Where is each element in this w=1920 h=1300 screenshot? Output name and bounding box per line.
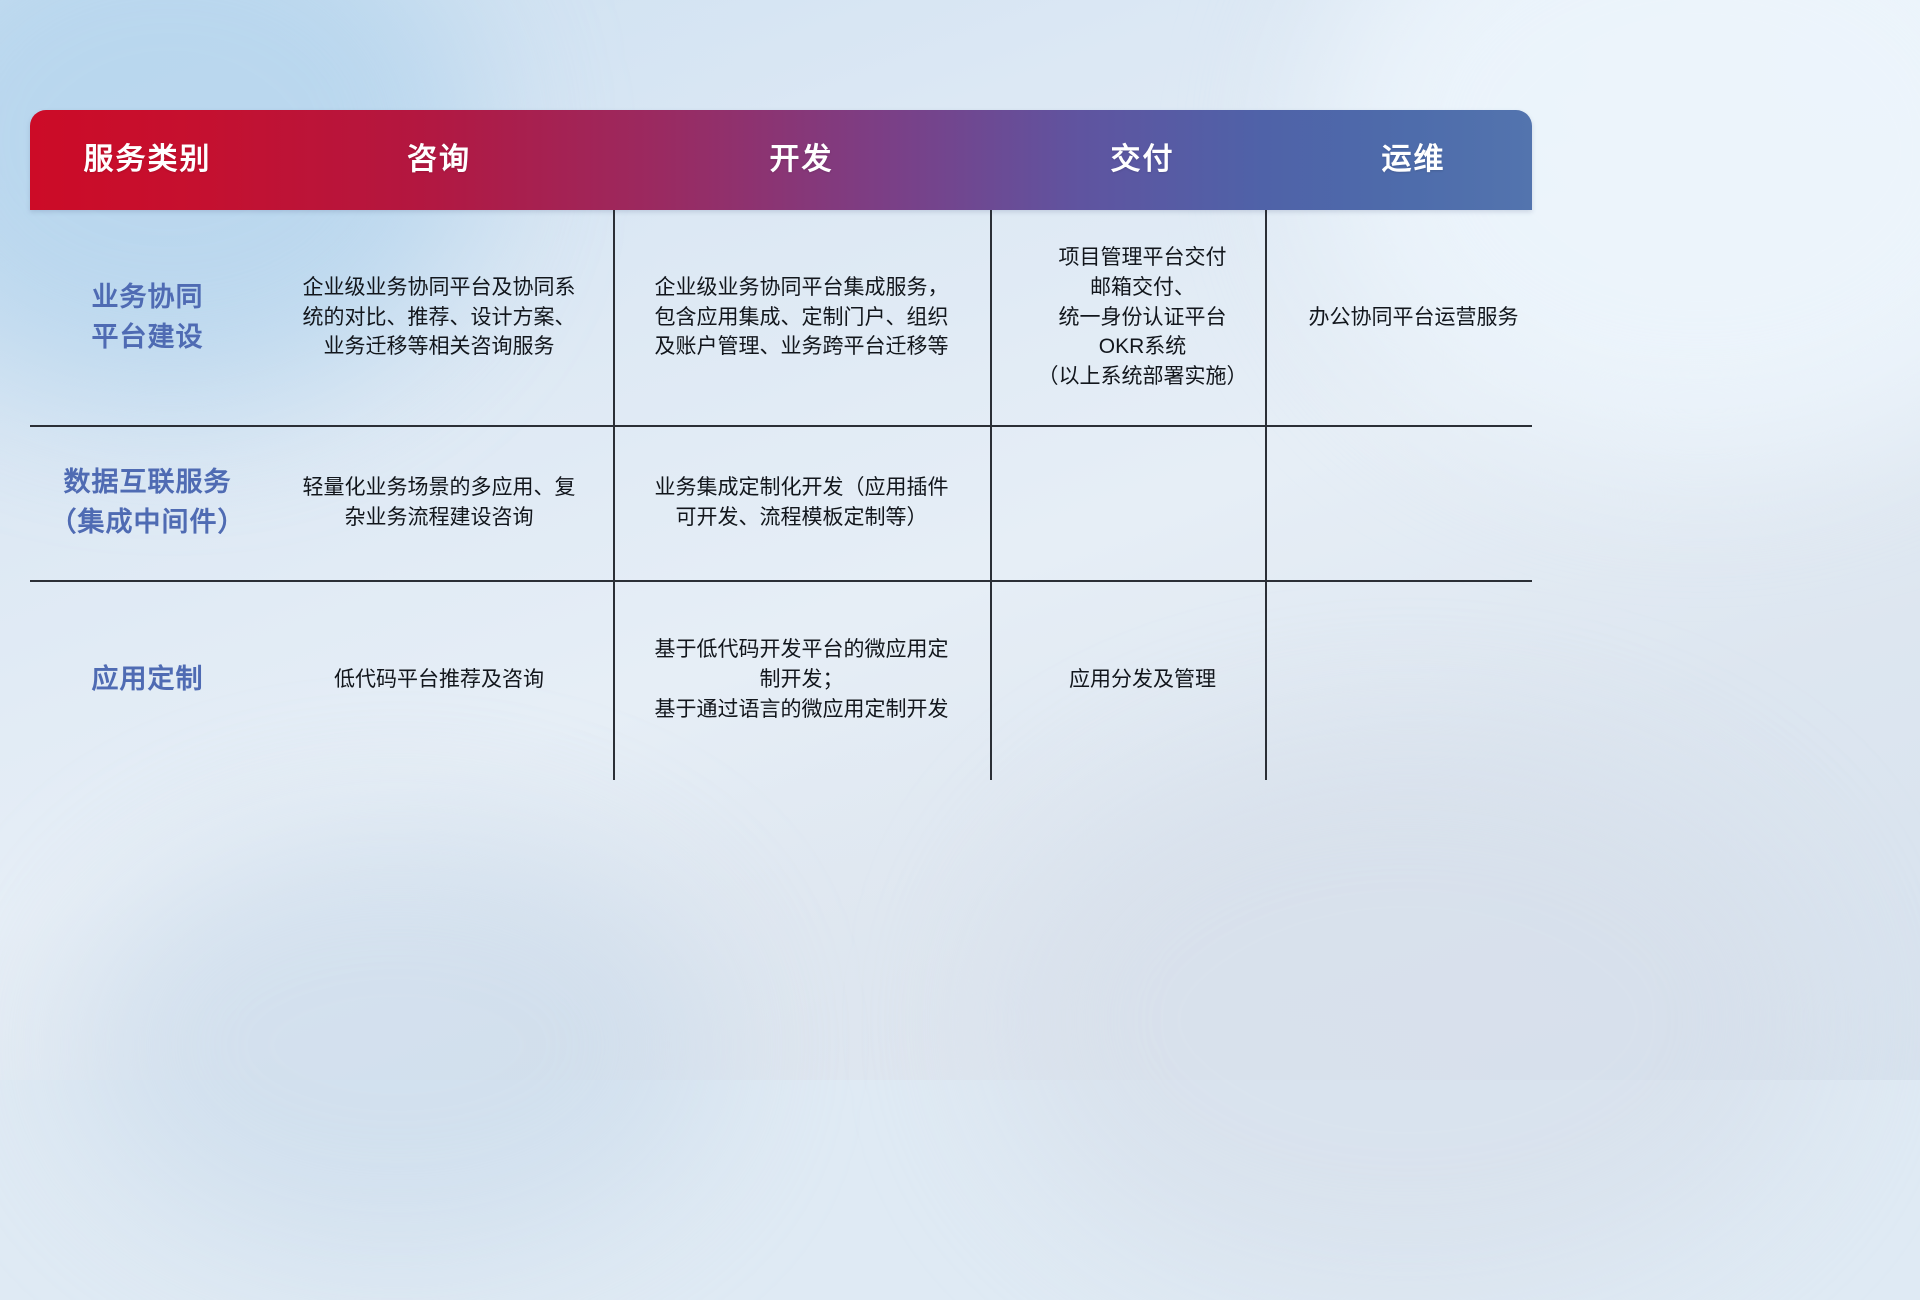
cell-text: 业务集成定制化开发（应用插件 可开发、流程模板定制等） [655, 473, 949, 533]
row-divider-2 [30, 580, 1532, 582]
column-divider-1 [613, 210, 615, 780]
cell-development: 基于低代码开发平台的微应用定 制开发； 基于通过语言的微应用定制开发 [613, 580, 990, 780]
row-label-cell: 业务协同 平台建设 [30, 210, 265, 425]
column-header-consulting: 咨询 [265, 145, 613, 175]
table-row: 应用定制 低代码平台推荐及咨询 基于低代码开发平台的微应用定 制开发； 基于通过… [30, 580, 1532, 780]
row-label-cell: 数据互联服务 （集成中间件） [30, 425, 265, 580]
column-header-development: 开发 [613, 145, 990, 175]
background-glow-bottom-right [998, 740, 1818, 1300]
row-label-text: 业务协同 平台建设 [92, 278, 204, 356]
cell-text: 应用分发及管理 [1069, 665, 1216, 695]
cell-operations: 办公协同平台运营服务 [1295, 210, 1532, 425]
cell-consulting: 轻量化业务场景的多应用、复 杂业务流程建设咨询 [265, 425, 613, 580]
cell-consulting: 企业级业务协同平台及协同系 统的对比、推荐、设计方案、 业务迁移等相关咨询服务 [265, 210, 613, 425]
row-divider-1 [30, 425, 1532, 427]
cell-delivery: 应用分发及管理 [990, 580, 1295, 780]
cell-text: 办公协同平台运营服务 [1309, 303, 1519, 333]
cell-text: 企业级业务协同平台集成服务， 包含应用集成、定制门户、组织 及账户管理、业务跨平… [655, 273, 949, 362]
column-divider-2 [990, 210, 992, 780]
column-divider-3 [1265, 210, 1267, 780]
column-header-service-category: 服务类别 [30, 145, 265, 175]
cell-operations [1295, 425, 1532, 580]
service-matrix-table: 服务类别 咨询 开发 交付 运维 业务协同 平台建设 企业级业务协同平台及协同系… [30, 110, 1532, 780]
cell-consulting: 低代码平台推荐及咨询 [265, 580, 613, 780]
table-row: 业务协同 平台建设 企业级业务协同平台及协同系 统的对比、推荐、设计方案、 业务… [30, 210, 1532, 425]
cell-operations [1295, 580, 1532, 780]
cell-text: 基于低代码开发平台的微应用定 制开发； 基于通过语言的微应用定制开发 [655, 635, 949, 724]
cell-text: 项目管理平台交付 邮箱交付、 统一身份认证平台 OKR系统 （以上系统部署实施） [1038, 243, 1248, 392]
cell-development: 企业级业务协同平台集成服务， 包含应用集成、定制门户、组织 及账户管理、业务跨平… [613, 210, 990, 425]
cell-text: 企业级业务协同平台及协同系 统的对比、推荐、设计方案、 业务迁移等相关咨询服务 [303, 273, 576, 362]
cell-development: 业务集成定制化开发（应用插件 可开发、流程模板定制等） [613, 425, 990, 580]
column-header-operations: 运维 [1295, 145, 1532, 175]
background-glow-bottom-left [77, 830, 717, 1260]
table-row: 数据互联服务 （集成中间件） 轻量化业务场景的多应用、复 杂业务流程建设咨询 业… [30, 425, 1532, 580]
row-label-text: 数据互联服务 （集成中间件） [50, 463, 246, 541]
slide-canvas: 服务类别 咨询 开发 交付 运维 业务协同 平台建设 企业级业务协同平台及协同系… [0, 0, 1920, 1080]
cell-delivery [990, 425, 1295, 580]
column-header-delivery: 交付 [990, 145, 1295, 175]
table-body: 业务协同 平台建设 企业级业务协同平台及协同系 统的对比、推荐、设计方案、 业务… [30, 210, 1532, 780]
row-label-text: 应用定制 [92, 660, 204, 699]
cell-text: 轻量化业务场景的多应用、复 杂业务流程建设咨询 [303, 473, 576, 533]
table-header-row: 服务类别 咨询 开发 交付 运维 [30, 110, 1532, 210]
cell-text: 低代码平台推荐及咨询 [334, 665, 544, 695]
row-label-cell: 应用定制 [30, 580, 265, 780]
cell-delivery: 项目管理平台交付 邮箱交付、 统一身份认证平台 OKR系统 （以上系统部署实施） [990, 210, 1295, 425]
